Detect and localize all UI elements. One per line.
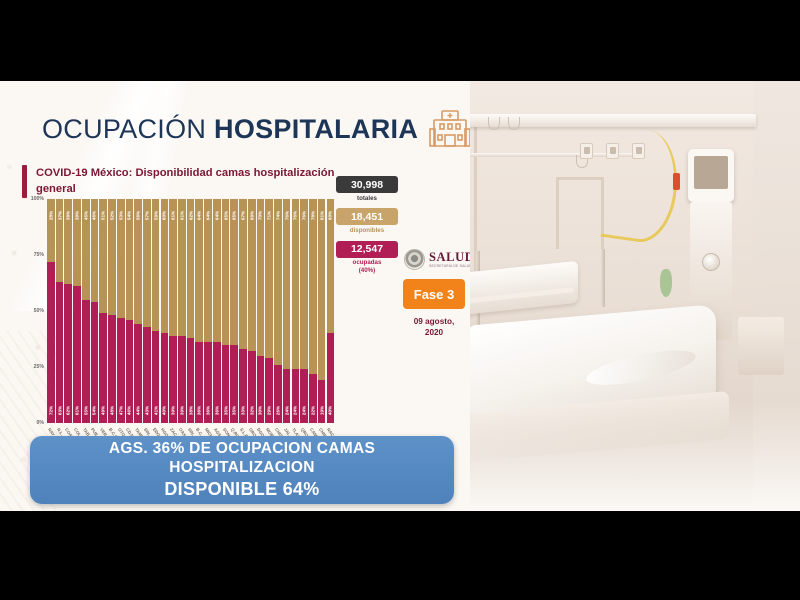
bar-label-disponibilidad: 64% <box>197 211 202 220</box>
bar-label-disponibilidad: 45% <box>83 211 88 220</box>
bar-segment-ocupacion: 39% <box>169 336 177 423</box>
bar-segment-disponibilidad: 74% <box>274 199 282 365</box>
bar-label-disponibilidad: 57% <box>144 211 149 220</box>
bar-label-disponibilidad: 38% <box>66 211 71 220</box>
chart-y-tick: 100% <box>31 196 44 202</box>
bar-label-ocupacion: 63% <box>57 406 62 415</box>
bar-label-disponibilidad: 61% <box>171 211 176 220</box>
chart-bar: 68%32% <box>248 199 256 423</box>
chart-bar: 64%36% <box>213 199 221 423</box>
bar-label-ocupacion: 33% <box>240 406 245 415</box>
bar-label-disponibilidad: 76% <box>284 211 289 220</box>
bar-segment-disponibilidad: 78% <box>309 199 317 374</box>
bar-label-disponibilidad: 65% <box>223 211 228 220</box>
chart-bar: 52%48% <box>108 199 116 423</box>
chart-bar: 37%63% <box>56 199 64 423</box>
bar-segment-ocupacion: 62% <box>64 284 72 423</box>
chart-bar: 45%55% <box>82 199 90 423</box>
bar-segment-disponibilidad: 65% <box>222 199 230 345</box>
bar-segment-ocupacion: 72% <box>47 262 55 423</box>
bar-segment-disponibilidad: 64% <box>195 199 203 342</box>
chart-bar: 28%72% <box>47 199 55 423</box>
bar-segment-disponibilidad: 70% <box>257 199 265 356</box>
bar-segment-ocupacion: 48% <box>108 315 116 423</box>
stat-ocupadas-caption: ocupadas (40%) <box>336 259 398 275</box>
bar-label-disponibilidad: 54% <box>127 211 132 220</box>
bar-segment-ocupacion: 24% <box>283 369 291 423</box>
bar-label-disponibilidad: 56% <box>136 211 141 220</box>
bar-label-ocupacion: 41% <box>153 406 158 415</box>
bar-label-disponibilidad: 67% <box>240 211 245 220</box>
bar-segment-disponibilidad: 52% <box>108 199 116 315</box>
bar-segment-disponibilidad: 81% <box>318 199 326 380</box>
chart-bar: 46%54% <box>91 199 99 423</box>
bar-segment-disponibilidad: 37% <box>56 199 64 282</box>
bar-segment-disponibilidad: 68% <box>248 199 256 351</box>
bar-segment-ocupacion: 32% <box>248 351 256 423</box>
bar-label-ocupacion: 38% <box>188 406 193 415</box>
banner-line-3: DISPONIBLE 64% <box>164 479 319 500</box>
bar-segment-disponibilidad: 57% <box>143 199 151 327</box>
bar-label-ocupacion: 48% <box>109 406 114 415</box>
bar-segment-ocupacion: 39% <box>178 336 186 423</box>
chart-bar: 70%30% <box>257 199 265 423</box>
bar-label-disponibilidad: 59% <box>153 211 158 220</box>
bar-segment-ocupacion: 24% <box>300 369 308 423</box>
mexico-eagle-seal-icon <box>404 249 425 270</box>
bar-label-ocupacion: 55% <box>83 406 88 415</box>
slide-date-line2: 2020 <box>400 328 468 339</box>
photo-ambu-bag <box>660 269 672 297</box>
title-bold: HOSPITALARIA <box>214 114 418 144</box>
bar-segment-disponibilidad: 71% <box>265 199 273 358</box>
bar-segment-disponibilidad: 64% <box>213 199 221 342</box>
bar-segment-ocupacion: 44% <box>134 324 142 423</box>
stat-disponibles-caption: disponibles <box>336 227 398 235</box>
bar-segment-disponibilidad: 54% <box>126 199 134 320</box>
bar-segment-ocupacion: 19% <box>318 380 326 423</box>
bar-label-ocupacion: 24% <box>302 406 307 415</box>
bar-label-ocupacion: 62% <box>66 406 71 415</box>
bar-segment-ocupacion: 54% <box>91 302 99 423</box>
title-light: OCUPACIÓN <box>42 114 214 144</box>
bar-segment-ocupacion: 55% <box>82 300 90 423</box>
bar-label-ocupacion: 26% <box>275 406 280 415</box>
bar-label-ocupacion: 19% <box>319 406 324 415</box>
bar-segment-disponibilidad: 38% <box>64 199 72 284</box>
bar-label-disponibilidad: 74% <box>275 211 280 220</box>
chart-bar: 76%24% <box>300 199 308 423</box>
bar-segment-disponibilidad: 76% <box>292 199 300 369</box>
banner-line-2: HOSPITALIZACION <box>169 459 314 477</box>
bar-label-ocupacion: 46% <box>127 406 132 415</box>
stat-disponibles: 18,451 disponibles <box>336 208 398 234</box>
bar-label-disponibilidad: 76% <box>293 211 298 220</box>
bar-label-disponibilidad: 78% <box>310 211 315 220</box>
chart-bar: 60%40% <box>161 199 169 423</box>
bar-label-disponibilidad: 46% <box>92 211 97 220</box>
bar-segment-ocupacion: 36% <box>213 342 221 423</box>
bar-label-disponibilidad: 68% <box>249 211 254 220</box>
chart-bar: 60%40% <box>327 199 335 423</box>
bar-label-ocupacion: 47% <box>118 406 123 415</box>
bar-segment-disponibilidad: 67% <box>239 199 247 349</box>
bar-label-ocupacion: 32% <box>249 406 254 415</box>
bar-label-ocupacion: 36% <box>206 406 211 415</box>
bar-segment-ocupacion: 35% <box>222 345 230 423</box>
chart-bar: 61%39% <box>178 199 186 423</box>
bar-label-disponibilidad: 81% <box>319 211 324 220</box>
hospital-building-icon <box>428 107 470 151</box>
chart-bar: 62%38% <box>187 199 195 423</box>
bar-label-disponibilidad: 70% <box>258 211 263 220</box>
chart-bar: 81%19% <box>318 199 326 423</box>
bar-segment-disponibilidad: 59% <box>152 199 160 331</box>
chart-y-tick: 25% <box>34 364 44 370</box>
bar-label-ocupacion: 35% <box>232 406 237 415</box>
lower-third-banner: AGS. 36% DE OCUPACION CAMAS HOSPITALIZAC… <box>30 436 454 504</box>
bar-segment-disponibilidad: 62% <box>187 199 195 338</box>
bar-segment-disponibilidad: 28% <box>47 199 55 262</box>
bar-segment-ocupacion: 47% <box>117 318 125 423</box>
bar-segment-disponibilidad: 64% <box>204 199 212 342</box>
bar-segment-disponibilidad: 76% <box>300 199 308 369</box>
bar-label-ocupacion: 72% <box>48 406 53 415</box>
stat-ocupadas-caption-l1: ocupadas <box>336 259 398 267</box>
bar-segment-ocupacion: 36% <box>195 342 203 423</box>
chart-bar: 67%33% <box>239 199 247 423</box>
bar-segment-ocupacion: 49% <box>99 313 107 423</box>
slide-subtitle: COVID-19 México: Disponibilidad camas ho… <box>36 165 372 198</box>
bar-segment-ocupacion: 29% <box>265 358 273 423</box>
stat-totales-value: 30,998 <box>336 176 398 193</box>
bar-segment-ocupacion: 61% <box>73 286 81 423</box>
bar-label-ocupacion: 43% <box>144 406 149 415</box>
bar-segment-ocupacion: 63% <box>56 282 64 423</box>
letterbox-top <box>0 0 800 81</box>
chart-y-axis: 0%25%50%75%100% <box>22 199 46 423</box>
bar-segment-ocupacion: 40% <box>161 333 169 423</box>
chart-bar: 39%61% <box>73 199 81 423</box>
bar-segment-ocupacion: 30% <box>257 356 265 423</box>
chart-bar: 56%44% <box>134 199 142 423</box>
bar-segment-disponibilidad: 46% <box>91 199 99 302</box>
chart-bar: 76%24% <box>292 199 300 423</box>
salud-logo: SALUD SECRETARÍA DE SALUD <box>404 249 470 270</box>
chart-bar: 65%35% <box>230 199 238 423</box>
stat-ocupadas: 12,547 ocupadas (40%) <box>336 241 398 275</box>
chart-bar: 54%46% <box>126 199 134 423</box>
bar-label-disponibilidad: 64% <box>214 211 219 220</box>
chart-y-tick: 0% <box>37 420 45 426</box>
chart-stat-boxes: 30,998 totales 18,451 disponibles 12,547… <box>336 176 398 281</box>
bar-label-disponibilidad: 76% <box>302 211 307 220</box>
occupancy-chart: 0%25%50%75%100% 28%72%37%63%38%62%39%61%… <box>22 199 382 464</box>
chart-bar: 76%24% <box>283 199 291 423</box>
bar-label-ocupacion: 35% <box>223 406 228 415</box>
photo-bed-sheet-fold <box>585 343 697 391</box>
bar-segment-disponibilidad: 76% <box>283 199 291 369</box>
letterbox-bottom <box>0 511 800 600</box>
bar-segment-disponibilidad: 51% <box>99 199 107 313</box>
photo-iv-hook <box>488 117 500 130</box>
salud-logo-name: SALUD <box>429 251 470 264</box>
chart-bar: 64%36% <box>195 199 203 423</box>
bar-segment-disponibilidad: 61% <box>178 199 186 336</box>
photo-wall-pipe <box>474 121 477 271</box>
chart-bar: 57%43% <box>143 199 151 423</box>
bar-segment-ocupacion: 22% <box>309 374 317 423</box>
photo-regulator-icon <box>673 173 680 190</box>
photo-gas-outlet <box>580 143 593 159</box>
banner-line-1: AGS. 36% DE OCUPACION CAMAS <box>109 440 375 458</box>
bar-label-disponibilidad: 65% <box>232 211 237 220</box>
bar-segment-disponibilidad: 39% <box>73 199 81 286</box>
bar-segment-ocupacion: 26% <box>274 365 282 423</box>
chart-bar: 64%36% <box>204 199 212 423</box>
slide-date-line1: 09 agosto, <box>400 317 468 328</box>
bar-label-ocupacion: 24% <box>293 406 298 415</box>
photo-wall-pipe-3 <box>556 177 604 180</box>
photo-iv-hook-2 <box>508 117 520 130</box>
chart-bar: 51%49% <box>99 199 107 423</box>
bar-segment-disponibilidad: 45% <box>82 199 90 300</box>
bar-label-disponibilidad: 51% <box>101 211 106 220</box>
bar-segment-ocupacion: 24% <box>292 369 300 423</box>
fase-badge: Fase 3 <box>403 279 465 309</box>
chart-plot-area: 28%72%37%63%38%62%39%61%45%55%46%54%51%4… <box>47 199 334 423</box>
bar-label-ocupacion: 49% <box>101 406 106 415</box>
slide-title: OCUPACIÓN HOSPITALARIA <box>42 107 470 151</box>
bar-label-ocupacion: 29% <box>267 406 272 415</box>
bar-segment-ocupacion: 40% <box>327 333 335 423</box>
chart-bar: 65%35% <box>222 199 230 423</box>
bar-label-ocupacion: 36% <box>214 406 219 415</box>
bar-label-disponibilidad: 28% <box>48 211 53 220</box>
bar-segment-disponibilidad: 65% <box>230 199 238 345</box>
bar-segment-ocupacion: 33% <box>239 349 247 423</box>
bar-label-disponibilidad: 37% <box>57 211 62 220</box>
chart-bar: 38%62% <box>64 199 72 423</box>
bar-label-ocupacion: 24% <box>284 406 289 415</box>
bar-segment-ocupacion: 46% <box>126 320 134 423</box>
bar-label-disponibilidad: 64% <box>206 211 211 220</box>
subtitle-accent-bar <box>22 165 27 198</box>
chart-bar: 74%26% <box>274 199 282 423</box>
bar-label-disponibilidad: 71% <box>267 211 272 220</box>
bar-label-ocupacion: 44% <box>136 406 141 415</box>
photo-wall-pipe-2 <box>556 177 559 249</box>
bar-label-ocupacion: 39% <box>179 406 184 415</box>
broadcast-screen: OCUPACIÓN HOSPITALARIA <box>0 0 800 600</box>
bar-label-ocupacion: 40% <box>162 406 167 415</box>
bar-label-ocupacion: 61% <box>75 406 80 415</box>
bar-segment-disponibilidad: 60% <box>327 199 335 333</box>
bar-label-disponibilidad: 53% <box>118 211 123 220</box>
bar-segment-disponibilidad: 60% <box>161 199 169 333</box>
bar-segment-ocupacion: 35% <box>230 345 238 423</box>
bar-segment-disponibilidad: 53% <box>117 199 125 318</box>
bar-label-disponibilidad: 39% <box>75 211 80 220</box>
stat-totales: 30,998 totales <box>336 176 398 202</box>
bar-label-disponibilidad: 62% <box>188 211 193 220</box>
chart-y-tick: 75% <box>34 252 44 258</box>
photo-ventilator-monitor <box>688 149 734 202</box>
slide-date: 09 agosto, 2020 <box>400 317 468 338</box>
bar-label-disponibilidad: 60% <box>328 211 333 220</box>
chart-bar: 53%47% <box>117 199 125 423</box>
bar-label-disponibilidad: 60% <box>162 211 167 220</box>
photo-bottom-fade <box>470 401 800 511</box>
stat-disponibles-value: 18,451 <box>336 208 398 225</box>
slide-subtitle-block: COVID-19 México: Disponibilidad camas ho… <box>22 165 372 198</box>
stat-totales-caption: totales <box>336 195 398 203</box>
bar-label-ocupacion: 22% <box>310 406 315 415</box>
chart-bars: 28%72%37%63%38%62%39%61%45%55%46%54%51%4… <box>47 199 334 423</box>
chart-bar: 59%41% <box>152 199 160 423</box>
stat-ocupadas-caption-l2: (40%) <box>336 267 398 275</box>
bar-label-ocupacion: 54% <box>92 406 97 415</box>
bar-segment-ocupacion: 38% <box>187 338 195 423</box>
photo-monitor-screen <box>694 156 728 189</box>
bar-segment-disponibilidad: 61% <box>169 199 177 336</box>
bar-segment-ocupacion: 41% <box>152 331 160 423</box>
bar-label-ocupacion: 30% <box>258 406 263 415</box>
chart-bar: 78%22% <box>309 199 317 423</box>
bar-segment-ocupacion: 43% <box>143 327 151 423</box>
chart-bar: 61%39% <box>169 199 177 423</box>
bar-label-ocupacion: 36% <box>197 406 202 415</box>
chart-bar: 71%29% <box>265 199 273 423</box>
bar-segment-disponibilidad: 56% <box>134 199 142 324</box>
bar-label-disponibilidad: 52% <box>109 211 114 220</box>
hospital-room-photo: Contigoal100 <box>470 81 800 511</box>
chart-y-tick: 50% <box>34 308 44 314</box>
bar-segment-ocupacion: 36% <box>204 342 212 423</box>
photo-ventilator-knob <box>702 253 720 271</box>
bar-label-ocupacion: 39% <box>171 406 176 415</box>
salud-logo-sub: SECRETARÍA DE SALUD <box>429 265 470 268</box>
bar-label-disponibilidad: 61% <box>179 211 184 220</box>
stat-ocupadas-value: 12,547 <box>336 241 398 258</box>
bar-label-ocupacion: 40% <box>328 406 333 415</box>
